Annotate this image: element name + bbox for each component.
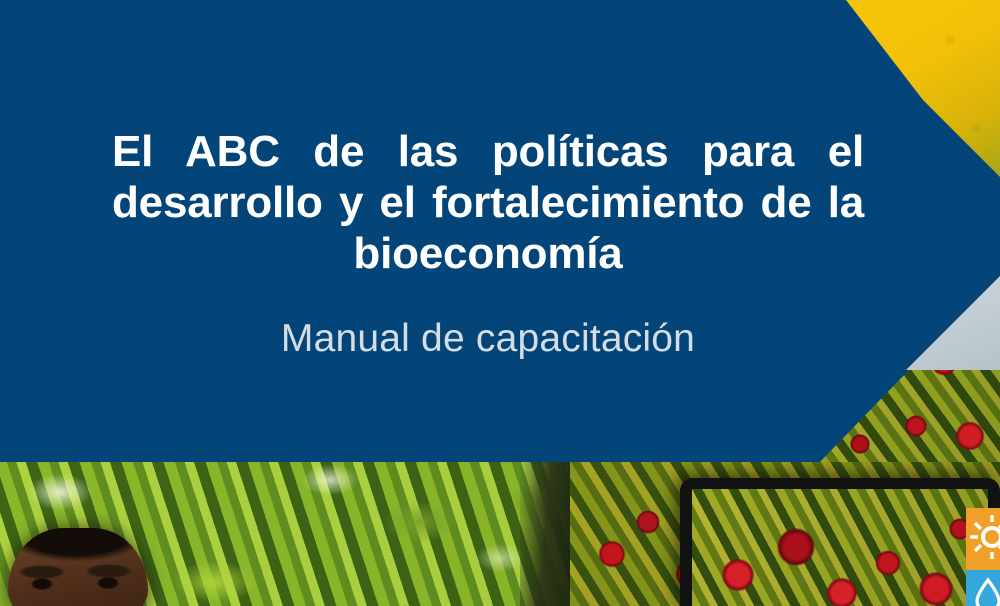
page-title: El ABC de las políticas para el desarrol… bbox=[112, 126, 864, 279]
title-line-3: bioeconomía bbox=[112, 228, 864, 279]
tablet-device bbox=[680, 478, 1000, 606]
title-line-1: El ABC de las políticas para el bbox=[112, 126, 864, 177]
sdg-badge-clean-water-and-sanitation[interactable] bbox=[966, 570, 1000, 606]
page-subtitle: Manual de capacitación bbox=[112, 316, 864, 362]
banner-content: El ABC de las políticas para el desarrol… bbox=[0, 0, 1000, 462]
sdg-badge-affordable-and-clean-energy[interactable] bbox=[966, 508, 1000, 570]
publication-cover: El ABC de las políticas para el desarrol… bbox=[0, 0, 1000, 606]
tablet-screen-photo bbox=[692, 489, 988, 606]
water-drop-icon bbox=[968, 576, 1000, 606]
title-line-2: desarrollo y el fortalecimiento de la bbox=[112, 177, 864, 228]
sdg-badge-stack bbox=[966, 508, 1000, 606]
sun-icon bbox=[968, 514, 1000, 560]
